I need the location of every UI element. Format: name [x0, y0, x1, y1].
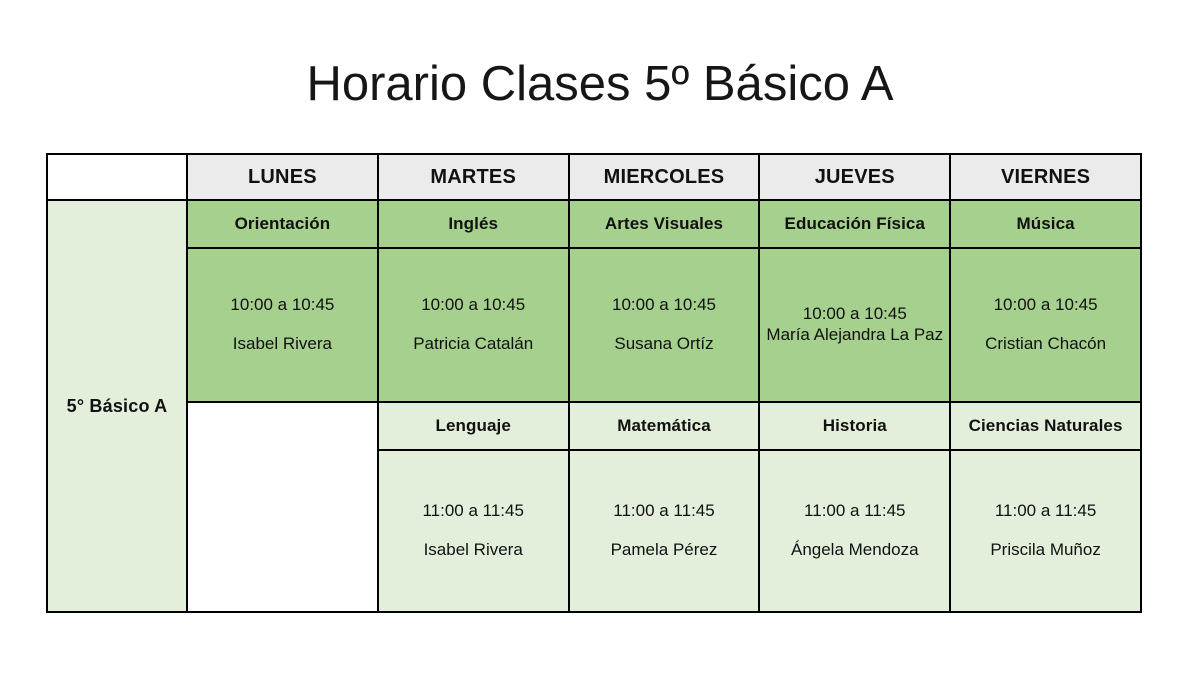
- detail-block1-lunes[interactable]: 10:00 a 10:45 Isabel Rivera: [187, 248, 378, 402]
- teacher-block1-lunes: Isabel Rivera: [188, 334, 377, 355]
- subject-block2-jueves[interactable]: Historia: [759, 402, 950, 450]
- teacher-block1-jueves: María Alejandra La Paz: [760, 325, 949, 346]
- page-title: Horario Clases 5º Básico A: [0, 56, 1200, 112]
- block2-subject-row: Lenguaje Matemática Historia Ciencias Na…: [47, 402, 1141, 450]
- subject-block1-miercoles[interactable]: Artes Visuales: [569, 200, 760, 248]
- day-header-jueves[interactable]: JUEVES: [759, 154, 950, 200]
- subject-block1-martes[interactable]: Inglés: [378, 200, 569, 248]
- detail-block2-jueves[interactable]: 11:00 a 11:45 Ángela Mendoza: [759, 450, 950, 612]
- teacher-block1-viernes: Cristian Chacón: [951, 334, 1140, 355]
- row-label-curso: 5° Básico A: [47, 200, 187, 612]
- teacher-block2-martes: Isabel Rivera: [379, 540, 568, 561]
- time-block1-miercoles: 10:00 a 10:45: [570, 295, 759, 316]
- day-header-martes[interactable]: MARTES: [378, 154, 569, 200]
- slide-canvas: Horario Clases 5º Básico A LUNES MARTES …: [0, 0, 1200, 675]
- empty-cell-block2-lunes[interactable]: [187, 402, 378, 612]
- day-header-lunes[interactable]: LUNES: [187, 154, 378, 200]
- subject-block1-lunes[interactable]: Orientación: [187, 200, 378, 248]
- detail-block1-viernes[interactable]: 10:00 a 10:45 Cristian Chacón: [950, 248, 1141, 402]
- detail-block1-martes[interactable]: 10:00 a 10:45 Patricia Catalán: [378, 248, 569, 402]
- table-corner-cell: [47, 154, 187, 200]
- teacher-block2-miercoles: Pamela Pérez: [570, 540, 759, 561]
- teacher-block1-martes: Patricia Catalán: [379, 334, 568, 355]
- teacher-block1-miercoles: Susana Ortíz: [570, 334, 759, 355]
- time-block1-lunes: 10:00 a 10:45: [188, 295, 377, 316]
- detail-block2-viernes[interactable]: 11:00 a 11:45 Priscila Muñoz: [950, 450, 1141, 612]
- time-block2-jueves: 11:00 a 11:45: [760, 501, 949, 522]
- block1-detail-row: 10:00 a 10:45 Isabel Rivera 10:00 a 10:4…: [47, 248, 1141, 402]
- table-header-row: LUNES MARTES MIERCOLES JUEVES VIERNES: [47, 154, 1141, 200]
- block1-subject-row: 5° Básico A Orientación Inglés Artes Vis…: [47, 200, 1141, 248]
- time-block1-viernes: 10:00 a 10:45: [951, 295, 1140, 316]
- time-block2-miercoles: 11:00 a 11:45: [570, 501, 759, 522]
- subject-block1-viernes[interactable]: Música: [950, 200, 1141, 248]
- teacher-block2-viernes: Priscila Muñoz: [951, 540, 1140, 561]
- time-block2-martes: 11:00 a 11:45: [379, 501, 568, 522]
- day-header-viernes[interactable]: VIERNES: [950, 154, 1141, 200]
- time-block1-martes: 10:00 a 10:45: [379, 295, 568, 316]
- time-block1-jueves: 10:00 a 10:45: [760, 304, 949, 325]
- day-header-miercoles[interactable]: MIERCOLES: [569, 154, 760, 200]
- detail-block1-miercoles[interactable]: 10:00 a 10:45 Susana Ortíz: [569, 248, 760, 402]
- subject-block2-viernes[interactable]: Ciencias Naturales: [950, 402, 1141, 450]
- subject-block2-miercoles[interactable]: Matemática: [569, 402, 760, 450]
- detail-block1-jueves[interactable]: 10:00 a 10:45 María Alejandra La Paz: [759, 248, 950, 402]
- class-schedule-table: LUNES MARTES MIERCOLES JUEVES VIERNES 5°…: [46, 153, 1142, 613]
- subject-block2-martes[interactable]: Lenguaje: [378, 402, 569, 450]
- time-block2-viernes: 11:00 a 11:45: [951, 501, 1140, 522]
- subject-block1-jueves[interactable]: Educación Física: [759, 200, 950, 248]
- detail-block2-martes[interactable]: 11:00 a 11:45 Isabel Rivera: [378, 450, 569, 612]
- detail-block2-miercoles[interactable]: 11:00 a 11:45 Pamela Pérez: [569, 450, 760, 612]
- teacher-block2-jueves: Ángela Mendoza: [760, 540, 949, 561]
